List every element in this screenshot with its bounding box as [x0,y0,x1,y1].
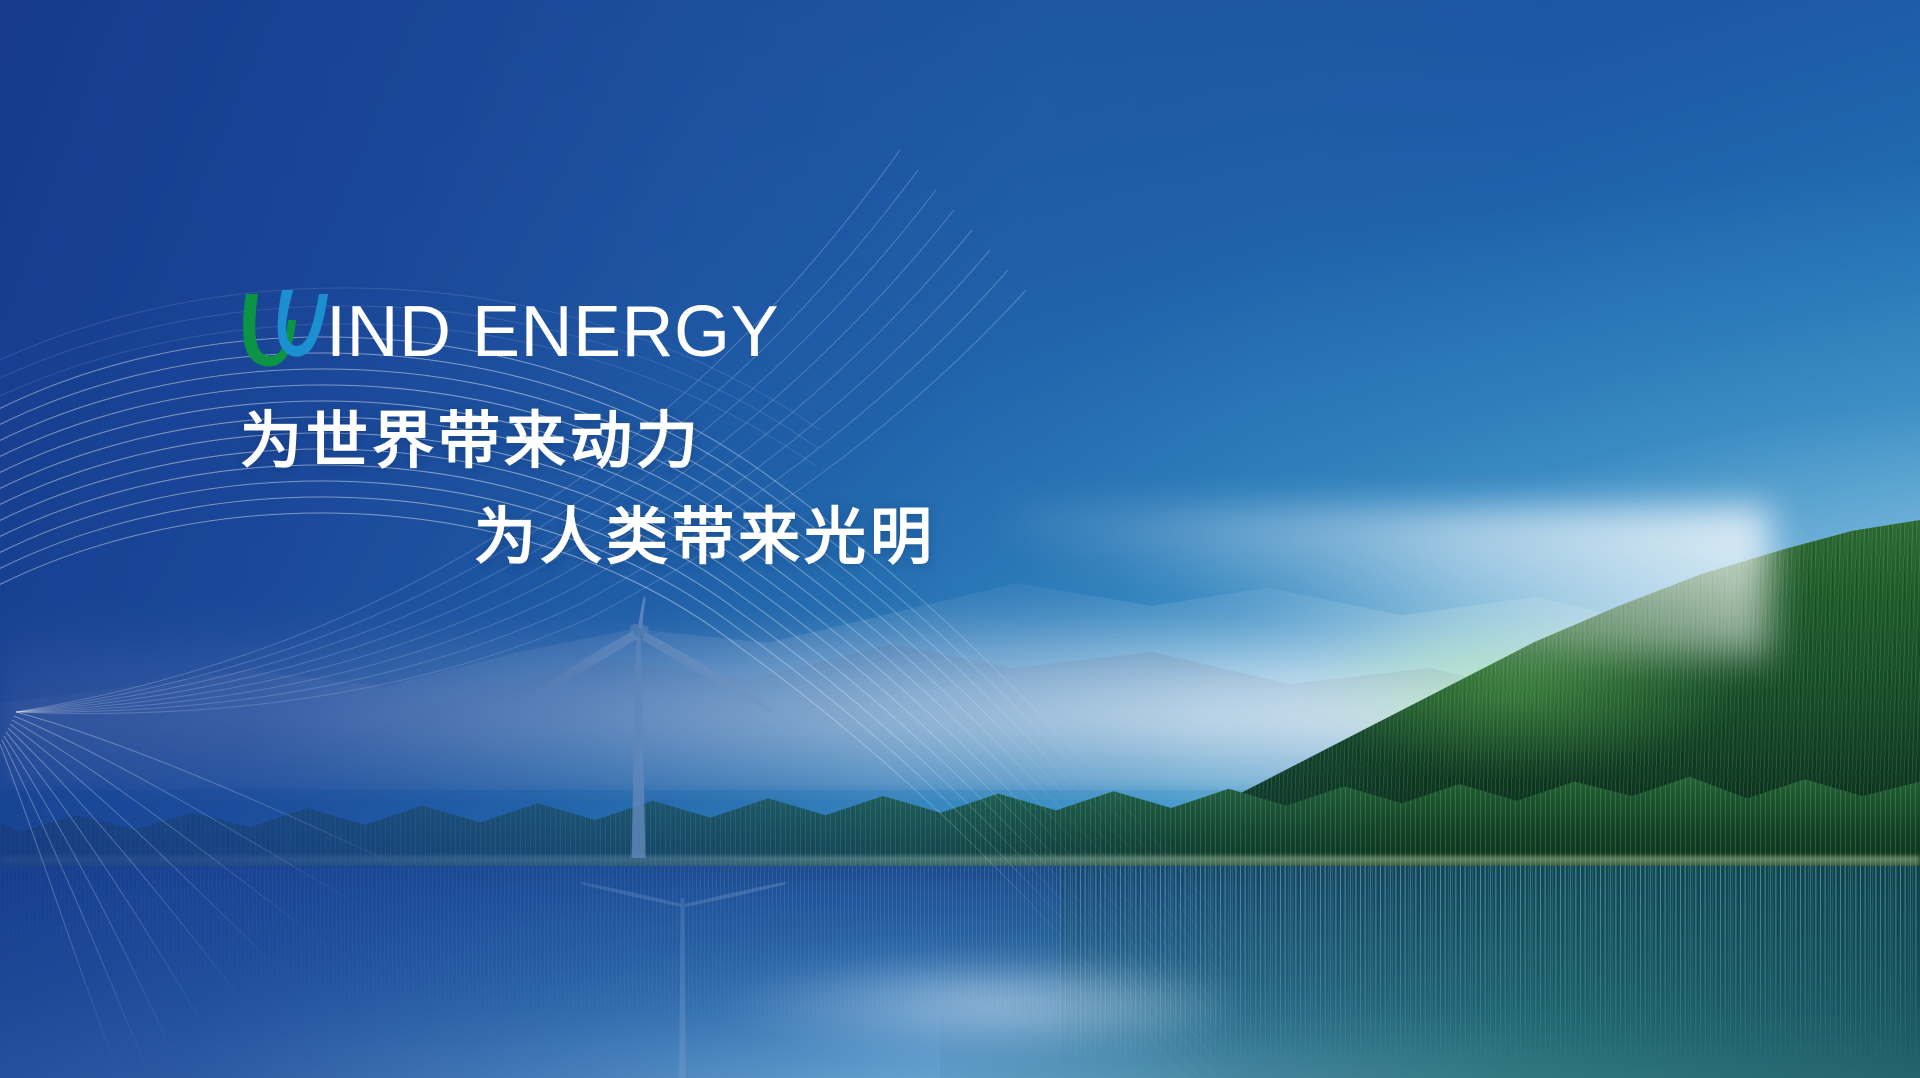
wind-turbine [470,596,810,866]
logo-row: IND ENERGY [238,292,1238,372]
tagline-line-1: 为世界带来动力 [240,394,1238,490]
hero-banner: IND ENERGY 为世界带来动力 为人类带来光明 [0,0,1920,1078]
wordmark: IND ENERGY [326,294,779,370]
tagline-line-2: 为人类带来光明 [474,490,1238,586]
brand-block: IND ENERGY 为世界带来动力 为人类带来光明 [238,292,1238,586]
turbine-reflection [555,880,815,1078]
wind-w-logo-icon [238,290,330,374]
